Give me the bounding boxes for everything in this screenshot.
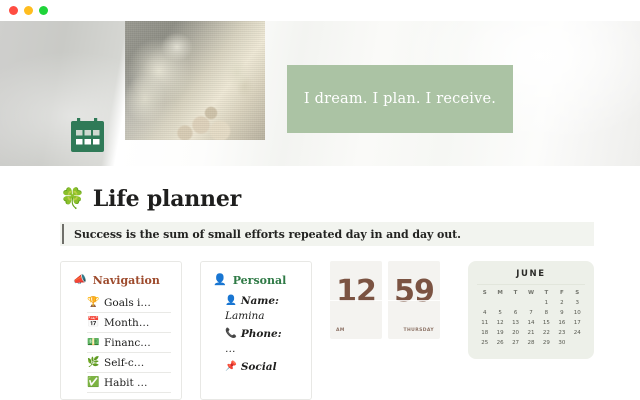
phone-icon: 📞 — [225, 329, 237, 339]
calendar-weekday: T — [508, 289, 523, 297]
nav-item-selfcare[interactable]: 🌿 Self-c… — [87, 353, 171, 373]
clover-icon: 🍀 — [60, 189, 85, 209]
personal-field-name-label: 👤 Name: — [225, 295, 311, 307]
clock-minute-digits: 59 — [388, 277, 440, 307]
calendar-day-cell[interactable]: 6 — [508, 309, 523, 317]
navigation-card-title: Navigation — [93, 274, 160, 287]
calendar-day-cell[interactable]: 23 — [554, 329, 569, 337]
photo-grain — [125, 21, 265, 140]
personal-field-phone-value[interactable]: … — [225, 343, 311, 355]
navigation-card-header: 📣 Navigation — [61, 262, 181, 287]
leaf-icon: 🌿 — [87, 358, 99, 368]
calendar-weekday: W — [523, 289, 538, 297]
flip-split-line — [330, 300, 382, 301]
callout-accent-bar — [62, 224, 64, 244]
calendar-weekday: T — [539, 289, 554, 297]
calendar-day-cell[interactable]: 18 — [477, 329, 492, 337]
clock-hour-digits: 12 — [330, 277, 382, 307]
calendar-widget[interactable]: JUNE SMTWTFS....123456789101112131415161… — [468, 261, 594, 359]
calendar-day-cell[interactable]: 26 — [492, 339, 507, 347]
cards-row: 📣 Navigation 🏆 Goals i… 📅 Month… 💵 Finan… — [60, 261, 594, 400]
calendar-day-cell[interactable]: 14 — [523, 319, 538, 327]
calendar-day-cell[interactable]: 21 — [523, 329, 538, 337]
calendar-grid: SMTWTFS....12345678910111213141516171819… — [477, 289, 585, 347]
calendar-day-cell[interactable]: 12 — [492, 319, 507, 327]
calendar-day-cell[interactable]: 30 — [554, 339, 569, 347]
nav-item-goals[interactable]: 🏆 Goals i… — [87, 293, 171, 313]
checklist-icon: ✅ — [87, 378, 99, 388]
calendar-day-cell[interactable]: 22 — [539, 329, 554, 337]
personal-field-phone-label: 📞 Phone: — [225, 328, 311, 340]
paper-plane-icon: 📣 — [73, 275, 87, 286]
personal-card: 👤 Personal 👤 Name: Lamina 📞 Phone: … 📌 S… — [200, 261, 312, 400]
clock-hour-card: 12 AM — [330, 261, 382, 339]
nav-item-label: Goals i… — [104, 297, 151, 309]
calendar-icon: 📅 — [87, 318, 99, 328]
personal-fields: 👤 Name: Lamina 📞 Phone: … 📌 Social — [225, 295, 311, 373]
calendar-day-cell[interactable]: 19 — [492, 329, 507, 337]
calendar-day-cell[interactable]: 9 — [554, 309, 569, 317]
navigation-list: 🏆 Goals i… 📅 Month… 💵 Financ… 🌿 Self-c… … — [87, 293, 181, 393]
personal-field-name-value[interactable]: Lamina — [225, 310, 311, 322]
personal-card-title: Personal — [233, 274, 287, 287]
flip-clock-widget: 12 AM 59 THURSDAY — [330, 261, 440, 339]
nav-item-label: Financ… — [104, 337, 151, 349]
personal-field-social-label: 📌 Social — [225, 361, 311, 373]
field-label: Phone: — [241, 328, 282, 340]
hero-quote-text: I dream. I plan. I receive. — [304, 91, 496, 107]
person-icon: 👤 — [225, 296, 237, 306]
hero-photo — [125, 21, 265, 140]
field-label: Social — [241, 361, 277, 373]
nav-item-finance[interactable]: 💵 Financ… — [87, 333, 171, 353]
page-title[interactable]: Life planner — [93, 186, 241, 212]
flip-split-line — [388, 300, 440, 301]
calendar-weekday: S — [477, 289, 492, 297]
field-label: Name: — [241, 295, 279, 307]
calendar-day-cell[interactable]: 24 — [570, 329, 585, 337]
calendar-day-cell[interactable]: 10 — [570, 309, 585, 317]
callout-quote: Success is the sum of small efforts repe… — [60, 222, 594, 246]
calendar-day-cell[interactable]: 15 — [539, 319, 554, 327]
hero-quote-band: I dream. I plan. I receive. — [287, 65, 513, 133]
calendar-day-cell[interactable]: 17 — [570, 319, 585, 327]
calendar-month-label: JUNE — [477, 269, 585, 285]
callout-text: Success is the sum of small efforts repe… — [74, 228, 461, 241]
window-titlebar — [0, 0, 640, 21]
calendar-day-cell[interactable]: 13 — [508, 319, 523, 327]
calendar-day-cell[interactable]: 3 — [570, 299, 585, 307]
calendar-day-cell[interactable]: 11 — [477, 319, 492, 327]
trophy-icon: 🏆 — [87, 298, 99, 308]
close-button[interactable] — [9, 6, 18, 15]
page-title-row: 🍀 Life planner — [60, 186, 241, 212]
nav-item-monthly[interactable]: 📅 Month… — [87, 313, 171, 333]
calendar-day-cell[interactable]: 7 — [523, 309, 538, 317]
calendar-weekday: S — [570, 289, 585, 297]
calendar-day-cell[interactable]: 27 — [508, 339, 523, 347]
nav-item-label: Habit … — [104, 377, 148, 389]
calendar-day-cell[interactable]: 28 — [523, 339, 538, 347]
personal-card-header: 👤 Personal — [201, 262, 311, 287]
calendar-day-cell[interactable]: 4 — [477, 309, 492, 317]
navigation-card: 📣 Navigation 🏆 Goals i… 📅 Month… 💵 Finan… — [60, 261, 182, 400]
calendar-day-cell[interactable]: 2 — [554, 299, 569, 307]
pin-icon: 📌 — [225, 362, 237, 372]
calendar-day-cell[interactable]: 29 — [539, 339, 554, 347]
calendar-day-cell[interactable]: 25 — [477, 339, 492, 347]
clock-minute-card: 59 THURSDAY — [388, 261, 440, 339]
calendar-weekday: M — [492, 289, 507, 297]
minimize-button[interactable] — [24, 6, 33, 15]
calendar-day-cell[interactable]: 16 — [554, 319, 569, 327]
clock-meridiem: AM — [336, 328, 345, 333]
page-calendar-icon[interactable] — [69, 117, 106, 153]
nav-item-label: Self-c… — [104, 357, 144, 369]
calendar-day-cell[interactable]: 20 — [508, 329, 523, 337]
calendar-day-cell[interactable]: 8 — [539, 309, 554, 317]
money-icon: 💵 — [87, 338, 99, 348]
calendar-weekday: F — [554, 289, 569, 297]
calendar-day-cell[interactable]: 5 — [492, 309, 507, 317]
clock-weekday: THURSDAY — [404, 328, 434, 333]
zoom-button[interactable] — [39, 6, 48, 15]
person-circle-icon: 👤 — [213, 275, 227, 286]
calendar-day-cell[interactable]: 1 — [539, 299, 554, 307]
page-body: 🍀 Life planner Success is the sum of sma… — [0, 166, 640, 400]
calendar-icon — [69, 117, 106, 153]
nav-item-habit[interactable]: ✅ Habit … — [87, 373, 171, 393]
nav-item-label: Month… — [104, 317, 149, 329]
